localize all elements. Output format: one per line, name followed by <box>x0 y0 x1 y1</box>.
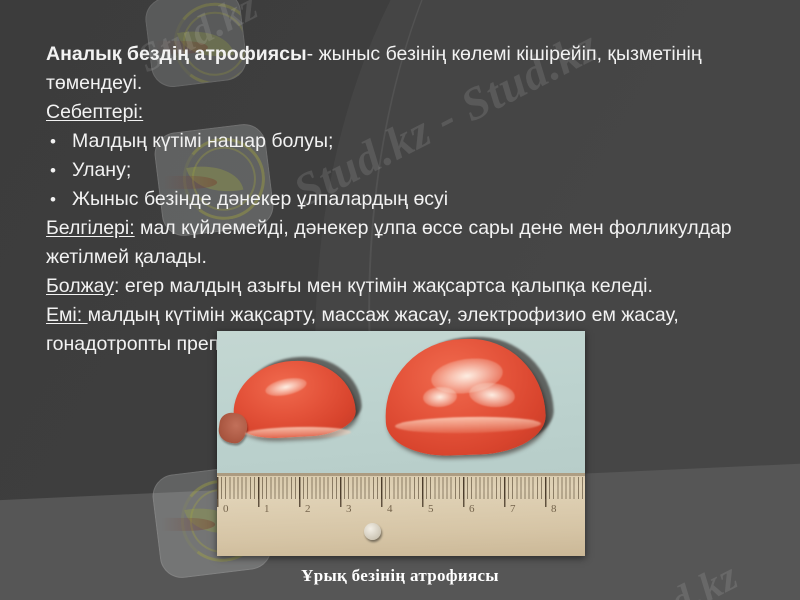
treatment-label: Емі: <box>46 304 88 326</box>
ruler-number: 3 <box>346 503 352 515</box>
list-item-label: Улану; <box>72 156 758 185</box>
prognosis-paragraph: Болжау: егер малдың азығы мен күтімін жа… <box>46 272 758 301</box>
presentation-slide: Stud.kz Stud.kz - Stud.kz Stud.kz Stud.k… <box>0 0 800 600</box>
photo-caption: Ұрық безінің атрофиясы <box>0 566 800 586</box>
prognosis-label: Болжау <box>46 275 114 297</box>
ruler-number-scale: 0 1 2 3 4 5 6 7 8 <box>217 503 585 521</box>
ruler-edge-line <box>217 473 585 476</box>
bullet-icon: • <box>46 185 72 214</box>
signs-label: Белгілері: <box>46 217 135 239</box>
ruler-number: 2 <box>305 503 311 515</box>
ruler-number: 7 <box>510 503 516 515</box>
causes-label: Себептері: <box>46 98 758 127</box>
heading-paragraph: Аналық бездің атрофиясы- жыныс безінің к… <box>46 40 758 98</box>
list-item: • Жыныс безінде дәнекер ұлпалардың өсуі <box>46 185 758 214</box>
signs-text: мал күйлемейді, дәнекер ұлпа өссе сары д… <box>46 217 732 268</box>
photo-reference-coin <box>364 523 381 540</box>
ruler-number: 0 <box>223 503 229 515</box>
bullet-icon: • <box>46 156 72 185</box>
list-item: • Улану; <box>46 156 758 185</box>
list-item-label: Малдың күтімі нашар болуы; <box>72 127 758 156</box>
causes-label-text: Себептері: <box>46 101 143 123</box>
ruler-number: 5 <box>428 503 434 515</box>
photo-wooden-ruler: 0 1 2 3 4 5 6 7 8 <box>217 473 585 556</box>
slide-text-body: Аналық бездің атрофиясы- жыныс безінің к… <box>46 40 758 359</box>
prognosis-text: : егер малдың азығы мен күтімін жақсартс… <box>114 275 653 297</box>
ruler-number: 4 <box>387 503 393 515</box>
list-item: • Малдың күтімі нашар болуы; <box>46 127 758 156</box>
bullet-icon: • <box>46 127 72 156</box>
ruler-number: 1 <box>264 503 270 515</box>
list-item-label: Жыныс безінде дәнекер ұлпалардың өсуі <box>72 185 758 214</box>
specimen-photograph: 0 1 2 3 4 5 6 7 8 <box>217 331 585 556</box>
signs-paragraph: Белгілері: мал күйлемейді, дәнекер ұлпа … <box>46 214 758 272</box>
heading-term: Аналық бездің атрофиясы <box>46 43 307 65</box>
ruler-number: 8 <box>551 503 557 515</box>
ruler-number: 6 <box>469 503 475 515</box>
